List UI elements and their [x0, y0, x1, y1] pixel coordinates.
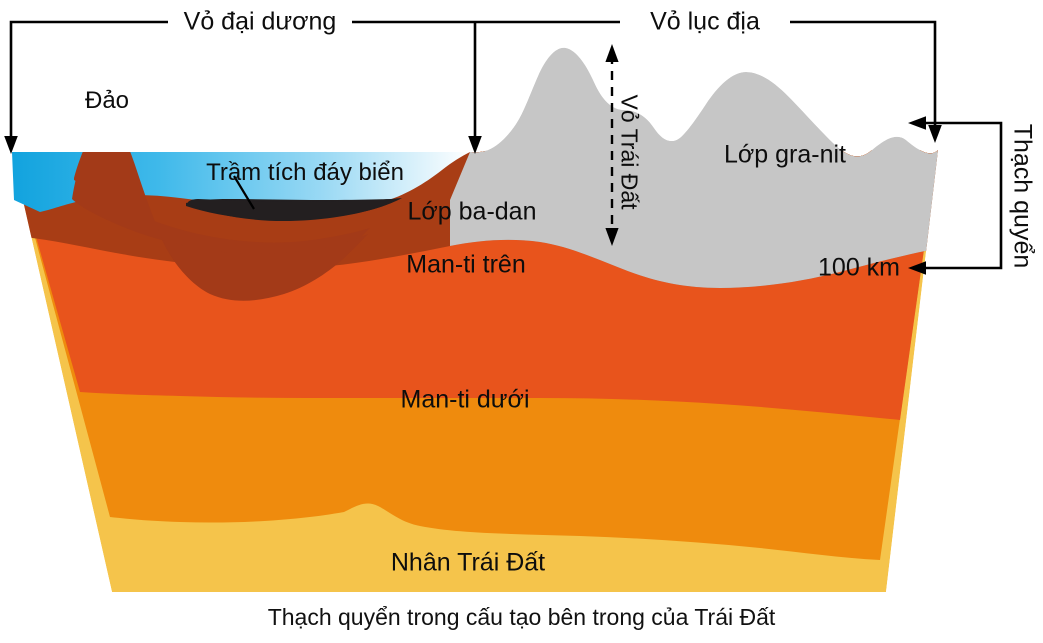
- arrowhead-lithosphere-top: [908, 116, 926, 130]
- figure-caption: Thạch quyển trong cấu tạo bên trong của …: [0, 604, 1043, 631]
- bracket-oceanic-left-arm: [11, 22, 168, 146]
- bracket-continental-right-arm: [790, 22, 935, 134]
- arrowhead-oceanic-right: [468, 136, 482, 154]
- arrowhead-oceanic-left: [4, 136, 18, 154]
- figure-canvas: Vỏ đại dương Vỏ lục địa Thạch quyển Đảo …: [0, 0, 1043, 643]
- arrowhead-crust-up: [605, 44, 618, 62]
- earth-cross-section-illustration: [0, 0, 1043, 643]
- arrowhead-continental-right: [928, 125, 942, 143]
